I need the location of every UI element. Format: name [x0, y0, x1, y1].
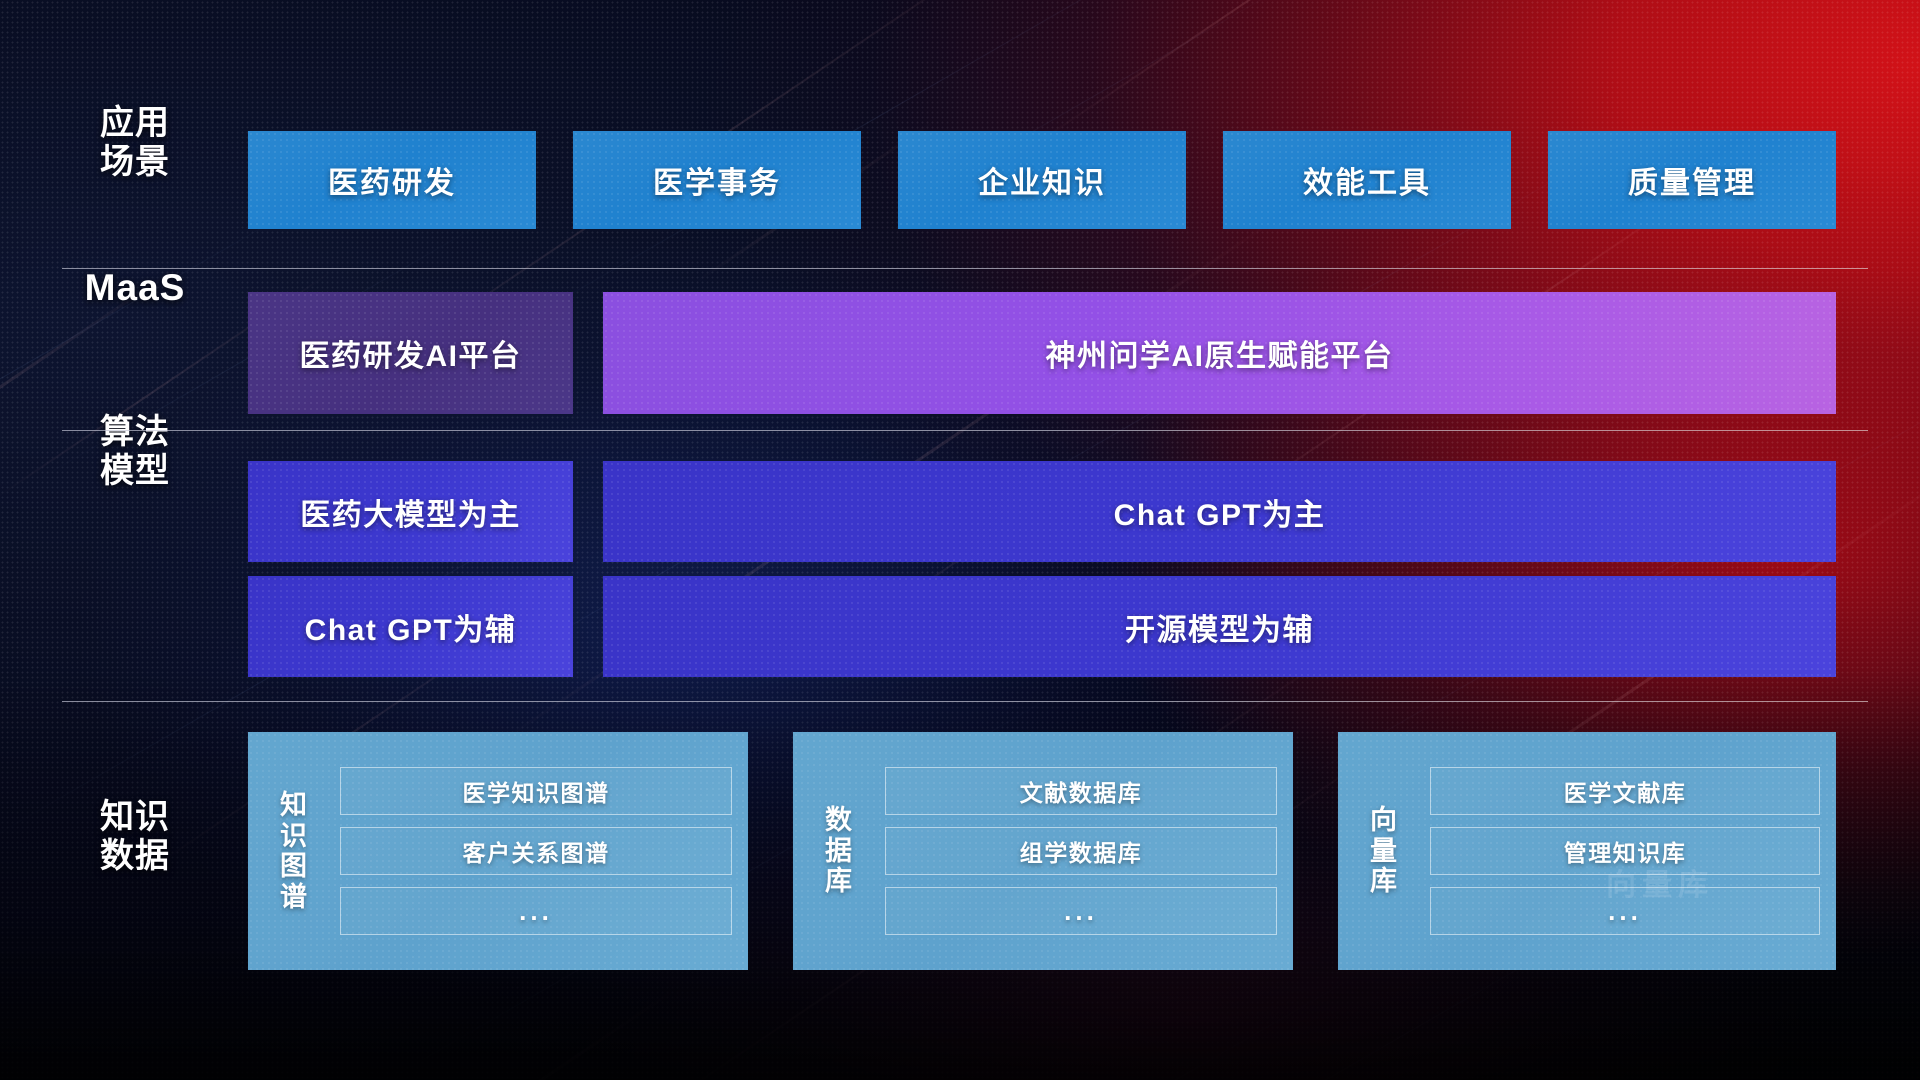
maas-left-box[interactable]: 医药研发AI平台	[248, 292, 573, 414]
algorithm-row2-right-box[interactable]: 开源模型为辅	[603, 576, 1836, 677]
row-label-application: 应用 场景	[60, 104, 210, 183]
row-label-maas: MaaS	[60, 267, 210, 310]
app-scenario-box-1[interactable]: 医药研发	[248, 131, 536, 229]
divider-algorithm-knowledge	[62, 701, 1868, 702]
divider-maas-algorithm	[62, 430, 1868, 431]
app-scenario-label: 医学事务	[653, 158, 781, 202]
knowledge-group-title: 数 据 库	[793, 805, 885, 897]
app-scenario-box-4[interactable]: 效能工具	[1223, 131, 1511, 229]
knowledge-item-more[interactable]: ...	[340, 887, 732, 935]
maas-right-label: 神州问学AI原生赋能平台	[1046, 331, 1394, 375]
knowledge-group-title: 向 量 库	[1338, 805, 1430, 897]
divider-application-maas	[62, 268, 1868, 269]
knowledge-item-label: ...	[519, 896, 553, 927]
knowledge-item-label: ...	[1064, 896, 1098, 927]
row-label-algorithm: 算法 模型	[60, 413, 210, 492]
knowledge-item-more[interactable]: ...	[1430, 887, 1820, 935]
knowledge-group-title: 知 识 图 谱	[248, 790, 340, 912]
algorithm-row1-left-box[interactable]: 医药大模型为主	[248, 461, 573, 562]
knowledge-group-graph[interactable]: 知 识 图 谱 医学知识图谱 客户关系图谱 ...	[248, 732, 748, 970]
knowledge-item-label: 医学文献库	[1564, 774, 1687, 808]
app-scenario-label: 质量管理	[1628, 158, 1756, 202]
algorithm-row2-right-label: 开源模型为辅	[1125, 605, 1314, 649]
algorithm-row2-left-box[interactable]: Chat GPT为辅	[248, 576, 573, 677]
algorithm-row2-left-label: Chat GPT为辅	[305, 605, 517, 649]
knowledge-group-database[interactable]: 数 据 库 文献数据库 组学数据库 ...	[793, 732, 1293, 970]
app-scenario-label: 企业知识	[978, 158, 1106, 202]
algorithm-row1-right-box[interactable]: Chat GPT为主	[603, 461, 1836, 562]
knowledge-item[interactable]: 客户关系图谱	[340, 827, 732, 875]
knowledge-item-more[interactable]: ...	[885, 887, 1277, 935]
knowledge-item-label: 客户关系图谱	[463, 834, 610, 868]
app-scenario-label: 效能工具	[1303, 158, 1431, 202]
knowledge-item-label: 组学数据库	[1020, 834, 1143, 868]
maas-left-label: 医药研发AI平台	[300, 331, 522, 375]
knowledge-item[interactable]: 组学数据库	[885, 827, 1277, 875]
knowledge-item-label: 管理知识库	[1564, 834, 1687, 868]
app-scenario-box-5[interactable]: 质量管理	[1548, 131, 1836, 229]
knowledge-item[interactable]: 医学知识图谱	[340, 767, 732, 815]
app-scenario-label: 医药研发	[328, 158, 456, 202]
knowledge-group-vector[interactable]: 向量库 向 量 库 医学文献库 管理知识库 ...	[1338, 732, 1836, 970]
algorithm-row1-right-label: Chat GPT为主	[1114, 490, 1326, 534]
app-scenario-box-3[interactable]: 企业知识	[898, 131, 1186, 229]
knowledge-item-label: 医学知识图谱	[463, 774, 610, 808]
maas-right-box[interactable]: 神州问学AI原生赋能平台	[603, 292, 1836, 414]
row-label-knowledge: 知识 数据	[60, 798, 210, 877]
knowledge-item-label: ...	[1608, 896, 1642, 927]
architecture-diagram: 应用 场景 MaaS 算法 模型 知识 数据 医药研发 医学事务 企业知识 效能…	[0, 0, 1920, 1080]
knowledge-item[interactable]: 文献数据库	[885, 767, 1277, 815]
knowledge-item[interactable]: 管理知识库	[1430, 827, 1820, 875]
knowledge-item-label: 文献数据库	[1020, 774, 1143, 808]
algorithm-row1-left-label: 医药大模型为主	[300, 490, 521, 534]
knowledge-item[interactable]: 医学文献库	[1430, 767, 1820, 815]
app-scenario-box-2[interactable]: 医学事务	[573, 131, 861, 229]
